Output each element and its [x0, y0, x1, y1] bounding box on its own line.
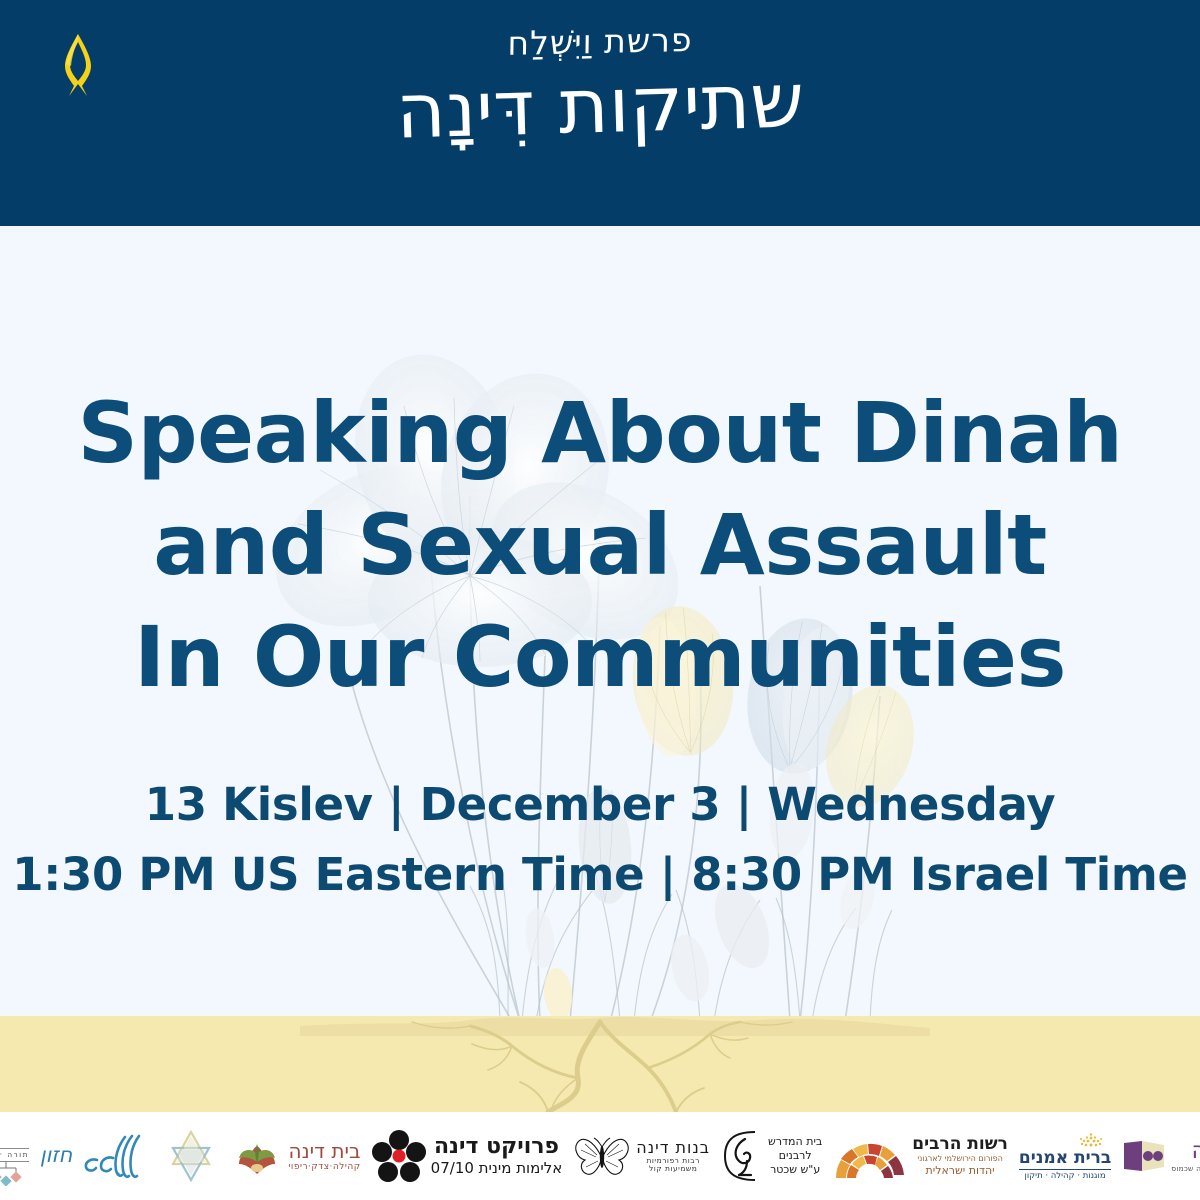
black-flower-red-center-icon	[372, 1129, 426, 1183]
logo-hadar[interactable]: הדר תורה · עבודה · חסד	[0, 1126, 29, 1187]
logo-project-dinah[interactable]: פרויקט דינה אלימות מינית 07/10	[372, 1129, 563, 1183]
sprout-flower-icon	[231, 1134, 283, 1178]
logo-hadar-name: הדר	[0, 1126, 29, 1147]
event-datetime: 13 Kislev | December 3 | Wednesday 1:30 …	[0, 770, 1200, 910]
logo-star[interactable]	[162, 1128, 220, 1184]
logo-reshut-harabim[interactable]: רשות הרבים הפורום הירושלמי לארגוני יהדות…	[833, 1132, 1008, 1180]
logo-brit-amanim-name: ברית אמנים	[1019, 1149, 1111, 1168]
logo-schechter[interactable]: בית המדרש לרבנים ע"ש שכטר	[721, 1129, 822, 1183]
date-line: 13 Kislev | December 3 | Wednesday	[0, 770, 1200, 840]
logo-schechter-name: בית המדרש	[768, 1135, 822, 1149]
logo-schechter-sub: לרבנים	[768, 1149, 822, 1163]
logo-beit-dinah-name: בית דינה	[288, 1140, 360, 1162]
hadar-mobile-icon	[0, 1162, 29, 1186]
logo-gluya[interactable]: גְּלוּיָה לדבר גלויות על מה שכמוס	[1122, 1139, 1200, 1173]
logo-script-name: חזון	[40, 1144, 72, 1168]
logo-banot-dinah-sub2: משמיעות קול	[636, 1165, 710, 1173]
butterfly-icon	[573, 1134, 631, 1178]
logo-reshut-name: רשות הרבים	[912, 1135, 1008, 1154]
logo-brit-amanim[interactable]: ברית אמנים מוגנות · קהילה · תיקון	[1019, 1131, 1111, 1182]
logo-hadar-sub: תורה · עבודה · חסד	[0, 1148, 29, 1162]
logo-project-dinah-sub: אלימות מינית 07/10	[431, 1160, 563, 1177]
logo-brit-amanim-sub: מוגנות · קהילה · תיקון	[1019, 1169, 1111, 1182]
schechter-flame-icon	[721, 1129, 763, 1183]
logo-reshut-sub: הפורום הירושלמי לארגוני	[912, 1154, 1008, 1164]
event-poster: פרשת וַיִּשְׁלַח שתיקות דִּינָה	[0, 0, 1200, 1200]
page-title: Speaking About Dinah and Sexual Assault …	[0, 378, 1200, 713]
blue-script-icon	[77, 1130, 151, 1182]
sponsor-logos-bar: הדר תורה · עבודה · חסד	[0, 1112, 1200, 1200]
header-band: פרשת וַיִּשְׁלַח שתיקות דִּינָה	[0, 0, 1200, 226]
logo-gluya-sub: לדבר גלויות על מה שכמוס	[1171, 1165, 1200, 1173]
logo-banot-dinah[interactable]: בנות דינה רבות רפורמיות משמיעות קול	[573, 1134, 710, 1178]
logo-project-dinah-name: פרויקט דינה	[431, 1135, 563, 1160]
logo-gluya-name: גְּלוּיָה	[1171, 1139, 1200, 1165]
logo-banot-dinah-name: בנות דינה	[636, 1139, 710, 1157]
header-hebrew-block: פרשת וַיִּשְׁלַח שתיקות דִּינָה	[0, 24, 1200, 150]
time-line: 1:30 PM US Eastern Time | 8:30 PM Israel…	[0, 840, 1200, 910]
star-of-david-icon	[162, 1128, 220, 1184]
dotted-sun-icon	[1019, 1131, 1111, 1149]
logo-schechter-sub2: ע"ש שכטר	[768, 1163, 822, 1177]
logo-reshut-sub2: יהדות ישראלית	[912, 1165, 1008, 1177]
title-line-1: Speaking About Dinah	[0, 378, 1200, 490]
logo-script[interactable]: חזון	[40, 1130, 151, 1182]
gluya-mark-icon	[1122, 1139, 1166, 1173]
logo-beit-dinah[interactable]: בית דינה קהילה·צדק·ריפוי	[231, 1134, 360, 1178]
colored-arc-icon	[833, 1132, 907, 1180]
title-line-3: In Our Communities	[0, 602, 1200, 714]
logo-beit-dinah-sub: קהילה·צדק·ריפוי	[288, 1162, 360, 1172]
title-line-2: and Sexual Assault	[0, 490, 1200, 602]
cracked-earth-icon	[0, 1016, 1200, 1112]
